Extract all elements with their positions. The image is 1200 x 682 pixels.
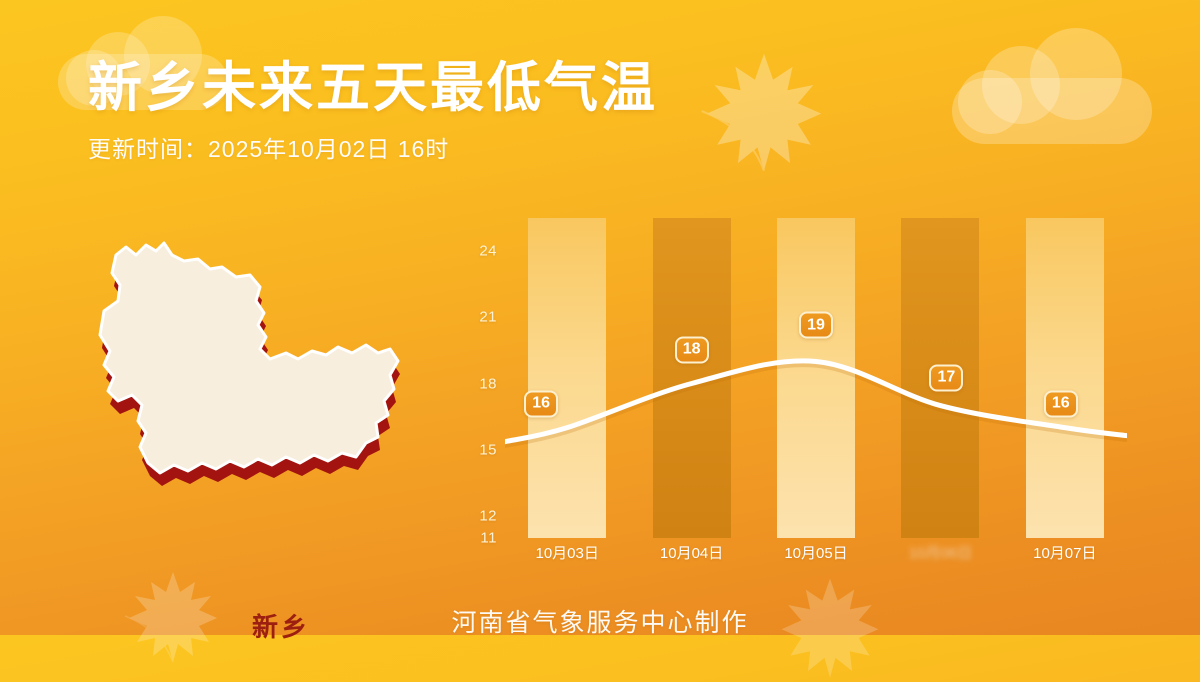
temperature-chart: 242118151211 10月03日10月04日10月05日10月06日10月… bbox=[455, 200, 1155, 570]
y-axis-tick-label: 15 bbox=[479, 441, 497, 458]
y-axis-tick-label: 11 bbox=[480, 530, 497, 547]
data-point-label: 19 bbox=[799, 312, 833, 339]
line-series-layer bbox=[505, 218, 1127, 538]
x-axis-tick-label: 10月04日 bbox=[660, 542, 723, 563]
temperature-line bbox=[505, 218, 1127, 538]
x-axis-tick-label: 10月07日 bbox=[1033, 542, 1096, 563]
footer-credit: 河南省气象服务中心制作 bbox=[0, 603, 1200, 639]
y-axis-tick-label: 24 bbox=[479, 243, 497, 260]
x-axis-tick-label: 10月03日 bbox=[536, 542, 599, 563]
y-axis-tick-label: 18 bbox=[479, 375, 497, 392]
update-time-label: 更新时间：2025年10月02日 16时 bbox=[88, 130, 658, 164]
y-axis-tick-label: 21 bbox=[479, 309, 497, 326]
x-axis-tick-label: 10月05日 bbox=[784, 542, 847, 563]
y-axis: 242118151211 bbox=[455, 218, 501, 538]
data-point-label: 16 bbox=[524, 390, 558, 417]
xinxiang-map-icon bbox=[60, 225, 440, 535]
cloud-icon bbox=[952, 26, 1152, 144]
data-point-label: 17 bbox=[929, 364, 963, 391]
page-title: 新乡未来五天最低气温 bbox=[88, 58, 658, 118]
header: 新乡未来五天最低气温 更新时间：2025年10月02日 16时 bbox=[88, 58, 658, 164]
y-axis-tick-label: 12 bbox=[479, 507, 497, 524]
x-axis: 10月03日10月04日10月05日10月06日10月07日 bbox=[505, 538, 1127, 570]
data-point-label: 16 bbox=[1044, 390, 1078, 417]
data-point-label: 18 bbox=[675, 336, 709, 363]
maple-leaf-icon bbox=[694, 46, 834, 176]
x-axis-tick-label: 10月06日 bbox=[909, 542, 972, 563]
region-map: 新乡 bbox=[60, 225, 440, 535]
